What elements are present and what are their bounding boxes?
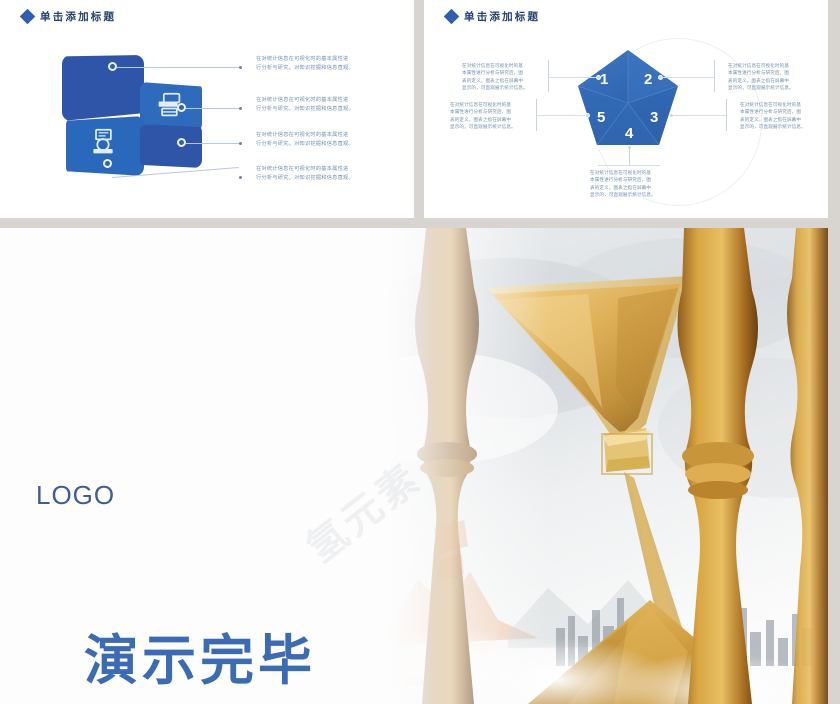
text-line: 显示的，可直观展示统计信息。 (450, 123, 532, 130)
diamond-bullet-icon (20, 9, 36, 25)
pentagon-number-4: 4 (625, 125, 633, 142)
text-line: 行分析与研究。对知识挖掘和信息直观。 (256, 140, 378, 149)
text-line: 在对统计信息在可视化时的基本属性进 (256, 55, 378, 64)
text-line: 在对统计信息在可视化时的基 (450, 101, 532, 108)
text-line: 表的定义，图表之指在屏幕中 (728, 77, 810, 84)
leader-line-2 (186, 108, 239, 109)
connector-dot-2 (177, 103, 186, 112)
text-line: 在对统计信息在可视化时的基本属性进 (256, 165, 378, 174)
pentagon-divider-3 (726, 99, 727, 131)
pentagon-divider-5 (536, 99, 537, 131)
text-line: 在对统计信息在可视化时的基 (462, 62, 544, 69)
text-line: 在对统计信息在可视化时的基 (590, 169, 672, 176)
text-line: 行分析与研究。对知识挖掘和信息直观。 (256, 174, 378, 183)
pentagon-connector-4 (629, 148, 630, 165)
text-line: 本属性进行分析与研究后，图 (590, 176, 672, 183)
slide1-text-item-3: 在对统计信息在可视化时的基本属性进 行分析与研究。对知识挖掘和信息直观。 (256, 131, 378, 149)
text-line: 本属性进行分析与研究后，图 (728, 69, 810, 76)
text-line: 在对统计信息在可视化时的基本属性进 (256, 131, 378, 140)
connector-dot-4 (103, 159, 112, 168)
text-line: 行分析与研究。对知识挖掘和信息直观。 (256, 105, 378, 114)
text-line: 显示的，可直观展示统计信息。 (728, 84, 810, 91)
slide-closing[interactable]: LOGO 演示完毕 感谢观看！ 氢元素 氢元素 (0, 228, 828, 704)
pentagon-divider-1 (548, 60, 549, 92)
text-line: 在对统计信息在可视化时的基 (740, 101, 822, 108)
hourglass-sand-photo (388, 228, 828, 704)
pentagon-number-2: 2 (644, 71, 652, 88)
leader-tick-1 (239, 66, 242, 69)
slide-thumbnail-2[interactable]: 单击添加标题 (424, 0, 828, 218)
leader-line-1 (117, 67, 239, 68)
pentagon-connector-1 (548, 77, 596, 78)
slide1-title-text: 单击添加标题 (40, 9, 116, 24)
text-line: 显示的，可直观展示统计信息。 (740, 123, 822, 130)
pentagon-divider-4 (598, 165, 660, 166)
slide1-text-item-2: 在对统计信息在可视化时的基本属性进 行分析与研究。对知识挖掘和信息直观。 (256, 96, 378, 114)
text-line: 表的定义，图表之指在屏幕中 (740, 116, 822, 123)
chevron-block-a[interactable] (62, 55, 144, 121)
text-line: 本属性进行分析与研究后，图 (450, 108, 532, 115)
pentagon-connector-5 (536, 115, 585, 116)
slide2-text-item-5: 在对统计信息在可视化时的基 本属性进行分析与研究后，图 表的定义，图表之指在屏幕… (450, 101, 532, 130)
chevron-block-d[interactable] (140, 124, 202, 168)
pentagon-connector-2 (662, 77, 714, 78)
pentagon-connector-3 (672, 115, 726, 116)
pentagon-number-3: 3 (650, 109, 658, 126)
pentagon-number-5: 5 (597, 109, 605, 126)
text-line: 在对统计信息在可视化时的基 (728, 62, 810, 69)
text-line: 本属性进行分析与研究后，图 (462, 69, 544, 76)
diamond-bullet-icon (444, 9, 460, 25)
closing-headline: 演示完毕 (84, 633, 316, 690)
slide2-text-item-3: 在对统计信息在可视化时的基 本属性进行分析与研究后，图 表的定义，图表之指在屏幕… (740, 101, 822, 130)
text-line: 表的定义，图表之指在屏幕中 (590, 184, 672, 191)
text-line: 行分析与研究。对知识挖掘和信息直观。 (256, 64, 378, 73)
leader-tick-3 (239, 142, 242, 145)
slide1-text-item-4: 在对统计信息在可视化时的基本属性进 行分析与研究。对知识挖掘和信息直观。 (256, 165, 378, 183)
slide2-text-item-4: 在对统计信息在可视化时的基 本属性进行分析与研究后，图 表的定义，图表之指在屏幕… (590, 169, 672, 198)
logo: LOGO (36, 480, 115, 511)
connector-dot-1 (108, 62, 117, 71)
slide1-text-item-1: 在对统计信息在可视化时的基本属性进 行分析与研究。对知识挖掘和信息直观。 (256, 55, 378, 73)
leader-line-3 (186, 143, 239, 144)
leader-tick-4 (239, 176, 242, 179)
slide1-title: 单击添加标题 (22, 9, 116, 24)
pentagon-node-5 (585, 113, 590, 118)
text-line: 显示的，可直观展示统计信息。 (462, 84, 544, 91)
slide2-text-item-1: 在对统计信息在可视化时的基 本属性进行分析与研究后，图 表的定义，图表之指在屏幕… (462, 62, 544, 91)
slide2-title-text: 单击添加标题 (464, 9, 540, 24)
text-line: 表的定义，图表之指在屏幕中 (462, 77, 544, 84)
slide2-title: 单击添加标题 (446, 9, 540, 24)
document-gear-icon (88, 128, 118, 156)
text-line: 本属性进行分析与研究后，图 (740, 108, 822, 115)
leader-tick-2 (239, 107, 242, 110)
slide2-text-item-2: 在对统计信息在可视化时的基 本属性进行分析与研究后，图 表的定义，图表之指在屏幕… (728, 62, 810, 91)
text-line: 在对统计信息在可视化时的基本属性进 (256, 96, 378, 105)
screenshot-root: 单击添加标题 (0, 0, 840, 704)
pentagon-divider-2 (714, 60, 715, 92)
text-line: 表的定义，图表之指在屏幕中 (450, 116, 532, 123)
pentagon-node-1 (596, 75, 601, 80)
text-line: 显示的，可直观展示统计信息。 (590, 191, 672, 198)
pentagon-number-1: 1 (600, 71, 608, 88)
slide-thumbnail-1[interactable]: 单击添加标题 (0, 0, 414, 218)
connector-dot-3 (177, 138, 186, 147)
